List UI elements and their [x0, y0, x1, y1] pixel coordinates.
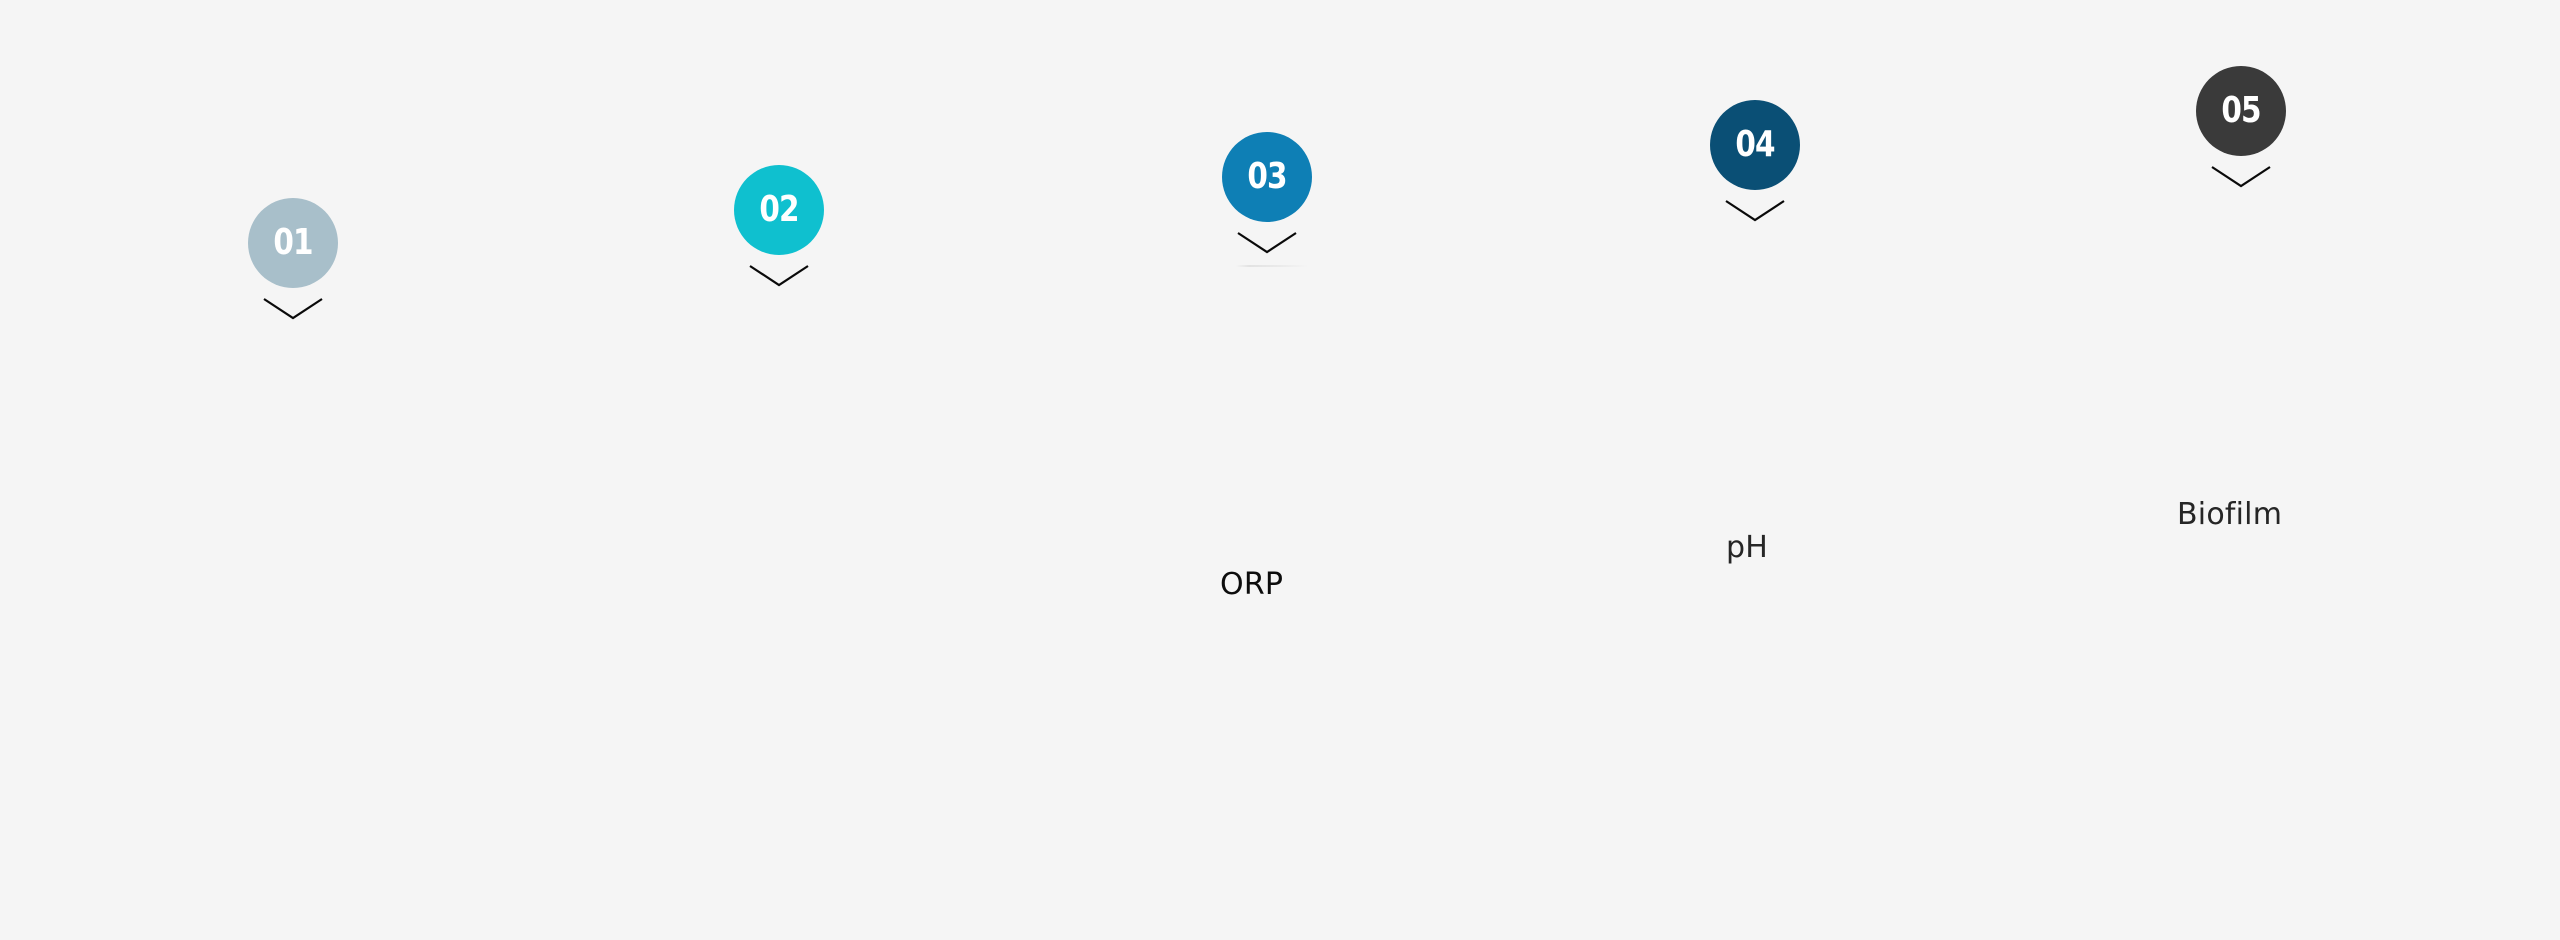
step-badge-05[interactable]: 05 [2196, 66, 2286, 156]
step-label-05: Biofilm [2177, 500, 2282, 530]
chevron-down-icon [2211, 166, 2271, 188]
step-number-label: 01 [273, 225, 312, 261]
chevron-down-icon [1237, 232, 1297, 254]
step-number-label: 02 [759, 192, 798, 228]
step-badge-01[interactable]: 01 [248, 198, 338, 288]
step-number-label: 05 [2221, 93, 2260, 129]
chevron-down-icon [1725, 200, 1785, 222]
step-badge-03[interactable]: 03 [1222, 132, 1312, 222]
step-badge-04[interactable]: 04 [1710, 100, 1800, 190]
chevron-down-icon [749, 265, 809, 287]
step-number-label: 04 [1735, 127, 1774, 163]
step-badge-02[interactable]: 02 [734, 165, 824, 255]
chevron-down-icon [263, 298, 323, 320]
connector-artifact-line [1236, 265, 1308, 267]
step-number-label: 03 [1247, 159, 1286, 195]
step-label-03: ORP [1220, 570, 1283, 600]
step-label-04: pH [1726, 533, 1768, 563]
step-diagram-canvas: 010203ORP04pH05Biofilm [0, 0, 2560, 940]
